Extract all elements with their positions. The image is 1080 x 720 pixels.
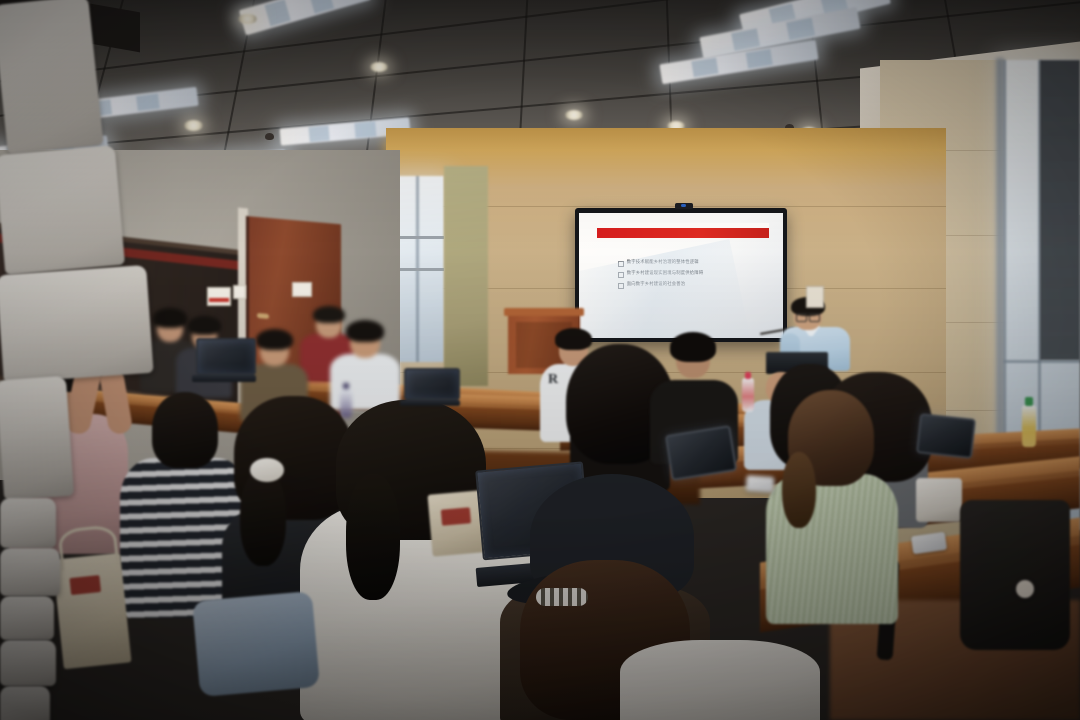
denim-jacket-on-chair bbox=[192, 591, 320, 697]
ceiling-panel-light bbox=[239, 0, 371, 35]
smartphone[interactable] bbox=[745, 475, 774, 493]
hair-scrunchie bbox=[250, 458, 284, 482]
window-blind-right[interactable] bbox=[1040, 60, 1080, 360]
backpack bbox=[960, 500, 1070, 650]
glasses-icon bbox=[796, 313, 820, 320]
wall-sign bbox=[292, 282, 312, 297]
presentation-display[interactable]: 数字技术赋能乡村治理的整体性逻辑 数字乡村建设现实困境与制度供给障碍 面向数字乡… bbox=[575, 208, 787, 342]
slide-header-bar bbox=[597, 228, 768, 238]
desk-item-cup bbox=[916, 478, 962, 522]
screen-glare bbox=[579, 239, 752, 338]
attendee bbox=[766, 390, 898, 620]
ceiling-downlight bbox=[238, 14, 257, 24]
chair[interactable] bbox=[0, 596, 54, 640]
chair[interactable] bbox=[0, 0, 104, 155]
lecture-hall-photo: 数字技术赋能乡村治理的整体性逻辑 数字乡村建设现实困境与制度供给障碍 面向数字乡… bbox=[0, 0, 1080, 720]
shirt-letter-r: R bbox=[548, 372, 562, 388]
ceiling-downlight bbox=[565, 110, 583, 120]
chair[interactable] bbox=[0, 498, 56, 548]
ceiling-sensor bbox=[265, 133, 274, 140]
ponytail bbox=[240, 470, 286, 566]
tablet[interactable] bbox=[916, 413, 976, 459]
ceiling-downlight bbox=[184, 120, 203, 131]
tote-logo bbox=[440, 507, 471, 526]
bag-charm bbox=[1016, 580, 1034, 598]
chair[interactable] bbox=[0, 265, 154, 383]
ponytail bbox=[782, 452, 816, 528]
water-bottle bbox=[742, 378, 754, 412]
chair[interactable] bbox=[0, 376, 74, 501]
chair[interactable] bbox=[0, 145, 125, 275]
slide-surface: 数字技术赋能乡村治理的整体性逻辑 数字乡村建设现实困境与制度供给障碍 面向数字乡… bbox=[579, 213, 783, 338]
door-handle[interactable] bbox=[257, 313, 269, 319]
attendee-white-top bbox=[620, 640, 820, 720]
wall-pillar bbox=[444, 166, 488, 386]
chair[interactable] bbox=[0, 686, 50, 720]
wall-sign bbox=[207, 287, 231, 306]
ceiling-downlight bbox=[370, 62, 388, 72]
wall-sign bbox=[233, 285, 246, 299]
laptop[interactable] bbox=[404, 368, 456, 406]
display-camera-icon bbox=[675, 203, 693, 209]
wall-outlet bbox=[806, 286, 824, 308]
chair[interactable] bbox=[0, 548, 60, 596]
ponytail bbox=[346, 474, 400, 600]
tote-bag bbox=[52, 553, 131, 670]
water-bottle bbox=[1022, 405, 1036, 447]
laptop[interactable] bbox=[196, 338, 252, 382]
chair[interactable] bbox=[0, 640, 56, 686]
hair-tie-beaded bbox=[536, 588, 588, 606]
